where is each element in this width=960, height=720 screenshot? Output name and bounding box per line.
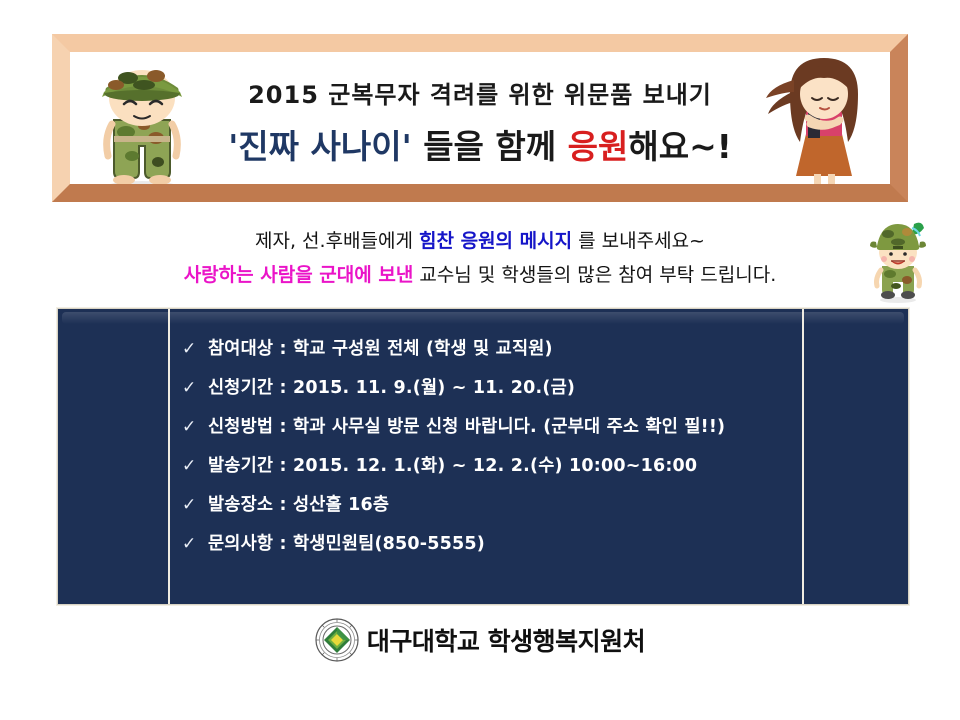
info-bullet-list: ✓ 참여대상 : 학교 구성원 전체 (학생 및 교직원) ✓ 신청기간 : 2… <box>182 335 788 569</box>
banner-frame: 2015 군복무자 격려를 위한 위문품 보내기 '진짜 사나이' 들을 함께 … <box>52 34 908 202</box>
footer: 대구대학교 학생행복지원처 <box>0 618 960 662</box>
panel-divider-left <box>168 309 170 604</box>
list-item: ✓ 발송기간 : 2015. 12. 1.(화) ~ 12. 2.(수) 10:… <box>182 452 788 477</box>
subtitle-line-2: 사랑하는 사람을 군대에 보낸 교수님 및 학생들의 많은 참여 부탁 드립니다… <box>0 258 960 292</box>
banner-inner: 2015 군복무자 격려를 위한 위문품 보내기 '진짜 사나이' 들을 함께 … <box>70 52 890 184</box>
info-panel: ✓ 참여대상 : 학교 구성원 전체 (학생 및 교직원) ✓ 신청기간 : 2… <box>57 308 909 605</box>
subtitle-line1-pre: 제자, 선.후배들에게 <box>255 230 419 252</box>
footer-organization-name: 대구대학교 학생행복지원처 <box>367 622 645 658</box>
check-icon: ✓ <box>182 497 208 514</box>
subtitle-line2-highlight: 사랑하는 사람을 군대에 보낸 <box>184 264 414 286</box>
list-item-label: 문의사항 : 학생민원팀(850-5555) <box>208 530 485 555</box>
daegu-university-seal-logo <box>315 618 359 662</box>
panel-divider-right <box>802 309 804 604</box>
panel-gloss <box>62 312 904 324</box>
list-item-label: 참여대상 : 학교 구성원 전체 (학생 및 교직원) <box>208 335 553 360</box>
check-icon: ✓ <box>182 536 208 553</box>
subtitle-line1-highlight: 힘찬 응원의 메시지 <box>419 230 572 252</box>
check-icon: ✓ <box>182 341 208 358</box>
banner-title: '진짜 사나이' 들을 함께 응원해요~! <box>228 120 732 168</box>
check-icon: ✓ <box>182 419 208 436</box>
list-item: ✓ 신청방법 : 학과 사무실 방문 신청 바랍니다. (군부대 주소 확인 필… <box>182 413 788 438</box>
subtitle-block: 제자, 선.후배들에게 힘찬 응원의 메시지 를 보내주세요~ 사랑하는 사람을… <box>0 224 960 292</box>
list-item: ✓ 발송장소 : 성산홀 16층 <box>182 491 788 516</box>
banner-title-quote: '진짜 사나이' <box>228 127 412 166</box>
banner-headline: 2015 군복무자 격려를 위한 위문품 보내기 <box>248 75 712 110</box>
list-item-label: 신청기간 : 2015. 11. 9.(월) ~ 11. 20.(금) <box>208 374 575 399</box>
list-item: ✓ 참여대상 : 학교 구성원 전체 (학생 및 교직원) <box>182 335 788 360</box>
subtitle-line2-post: 교수님 및 학생들의 많은 참여 부탁 드립니다. <box>413 264 776 286</box>
banner-text-group: 2015 군복무자 격려를 위한 위문품 보내기 '진짜 사나이' 들을 함께 … <box>200 66 760 176</box>
list-item: ✓ 신청기간 : 2015. 11. 9.(월) ~ 11. 20.(금) <box>182 374 788 399</box>
list-item-label: 발송장소 : 성산홀 16층 <box>208 491 389 516</box>
subtitle-line1-post: 를 보내주세요~ <box>572 230 705 252</box>
list-item-label: 발송기간 : 2015. 12. 1.(화) ~ 12. 2.(수) 10:00… <box>208 452 697 477</box>
check-icon: ✓ <box>182 458 208 475</box>
banner-title-accent: 응원 <box>568 127 629 166</box>
banner-title-mid: 들을 함께 <box>412 127 568 166</box>
banner-title-tail: 해요~! <box>628 127 731 166</box>
girl-with-long-hair-illustration <box>764 54 884 184</box>
subtitle-line-1: 제자, 선.후배들에게 힘찬 응원의 메시지 를 보내주세요~ <box>0 224 960 258</box>
list-item-label: 신청방법 : 학과 사무실 방문 신청 바랍니다. (군부대 주소 확인 필!!… <box>208 413 725 438</box>
soldier-boy-illustration <box>82 58 202 184</box>
check-icon: ✓ <box>182 380 208 397</box>
list-item: ✓ 문의사항 : 학생민원팀(850-5555) <box>182 530 788 555</box>
soldier-mascot-illustration <box>862 218 934 304</box>
